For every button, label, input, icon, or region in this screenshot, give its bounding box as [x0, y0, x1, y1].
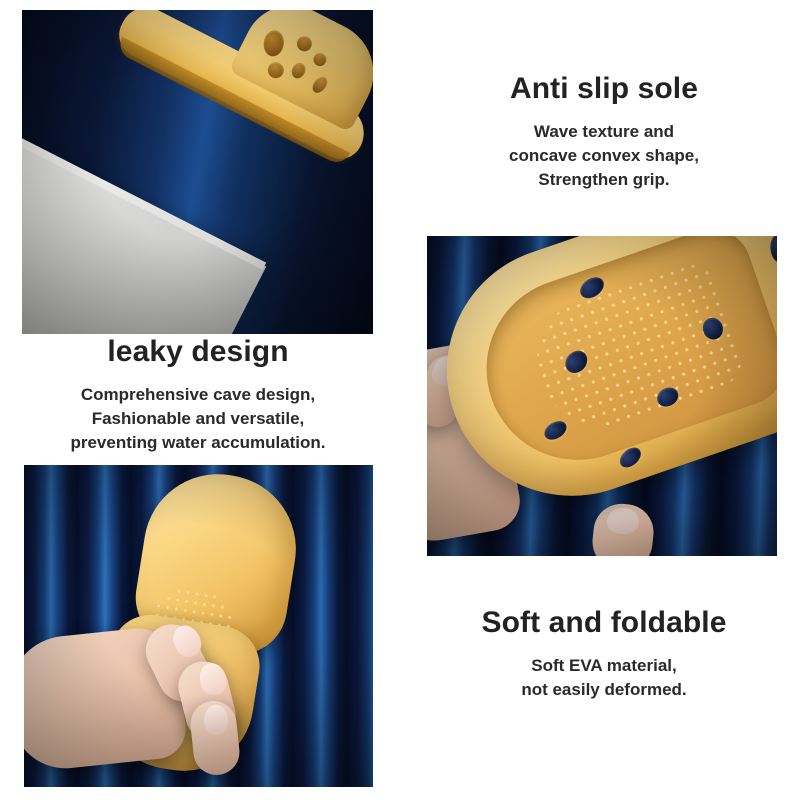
feature-subcopy: Wave texture and concave convex shape, S… — [430, 120, 778, 192]
feature-text-leaky-design: leaky design Comprehensive cave design, … — [22, 335, 374, 455]
photo-hero-slipper-on-ledge — [22, 10, 373, 334]
photo-hand-holding-slipper — [24, 465, 373, 787]
feature-subcopy: Soft EVA material, not easily deformed. — [430, 654, 778, 702]
photo-vignette — [22, 10, 373, 334]
photo-vignette — [427, 236, 777, 556]
feature-headline: leaky design — [22, 335, 374, 369]
feature-headline: Soft and foldable — [430, 606, 778, 640]
feature-text-anti-slip-sole: Anti slip sole Wave texture and concave … — [430, 72, 778, 192]
feature-headline: Anti slip sole — [430, 72, 778, 106]
collage-canvas: Anti slip sole Wave texture and concave … — [0, 0, 800, 800]
photo-insole-macro — [427, 236, 777, 556]
feature-text-soft-and-foldable: Soft and foldable Soft EVA material, not… — [430, 606, 778, 702]
photo-vignette — [24, 465, 373, 787]
feature-subcopy: Comprehensive cave design, Fashionable a… — [22, 383, 374, 455]
